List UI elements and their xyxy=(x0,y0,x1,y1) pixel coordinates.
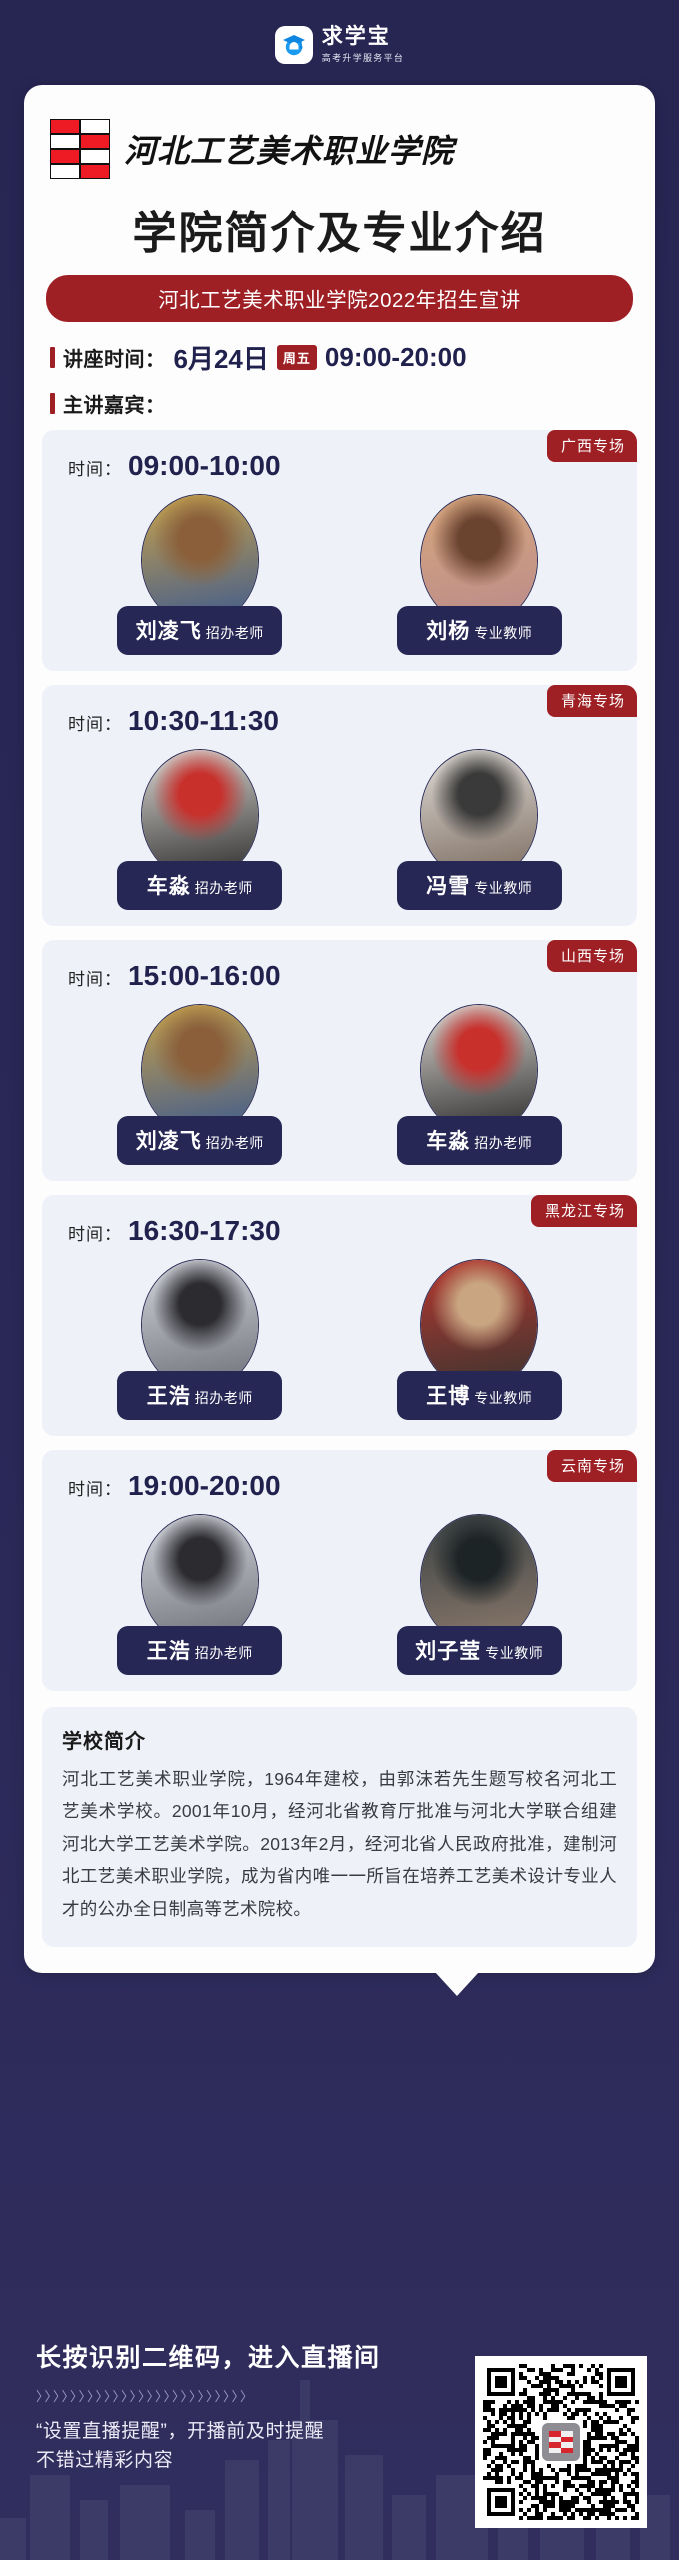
guest-label: 主讲嘉宾： xyxy=(63,389,166,418)
school-identity: 河北工艺美术职业学院 xyxy=(24,85,655,179)
speaker-role: 招办老师 xyxy=(474,1133,532,1153)
speaker-item: 刘杨专业教师 xyxy=(384,494,574,655)
speaker-list: 王浩招办老师王博专业教师 xyxy=(42,1259,637,1420)
speaker-name-chip: 王浩招办老师 xyxy=(117,1626,282,1675)
chevron-divider-icon: 〉〉〉〉〉〉〉〉〉〉〉〉〉〉〉〉〉〉〉〉〉〉〉〉〉 xyxy=(36,2386,475,2405)
speaker-item: 王浩招办老师 xyxy=(105,1514,295,1675)
speaker-role: 专业教师 xyxy=(474,623,532,643)
speaker-role: 专业教师 xyxy=(485,1643,543,1663)
speaker-name: 刘子莹 xyxy=(415,1635,481,1665)
speaker-item: 车淼招办老师 xyxy=(105,749,295,910)
speaker-name-chip: 冯雪专业教师 xyxy=(397,861,562,910)
speaker-role: 招办老师 xyxy=(206,623,264,643)
lecture-time-range: 09:00-20:00 xyxy=(325,342,467,373)
session-block: 山西专场时间：15:00-16:00刘凌飞招办老师车淼招办老师 xyxy=(42,940,637,1181)
speaker-item: 刘子莹专业教师 xyxy=(384,1514,574,1675)
speaker-list: 王浩招办老师刘子莹专业教师 xyxy=(42,1514,637,1675)
session-time-label: 时间： xyxy=(68,1475,122,1500)
cta-line-2: “设置直播提醒”，开播前及时提醒 xyxy=(36,2417,475,2446)
school-intro-body: 河北工艺美术职业学院，1964年建校，由郭沫若先生题写校名河北工艺美术学校。20… xyxy=(62,1763,617,1925)
speaker-name-chip: 刘杨专业教师 xyxy=(397,606,562,655)
session-region-badge: 云南专场 xyxy=(547,1450,637,1482)
session-region-badge: 广西专场 xyxy=(547,430,637,462)
speaker-list: 车淼招办老师冯雪专业教师 xyxy=(42,749,637,910)
speaker-list: 刘凌飞招办老师车淼招办老师 xyxy=(42,1004,637,1165)
session-time-value: 15:00-16:00 xyxy=(128,960,281,992)
weekday-badge: 周五 xyxy=(277,345,317,370)
bullet-tick-icon xyxy=(50,393,55,414)
session-time-label: 时间： xyxy=(68,710,122,735)
bullet-tick-icon xyxy=(50,347,55,368)
session-region-badge: 黑龙江专场 xyxy=(531,1195,637,1227)
poster-page: 求学宝 高考升学服务平台 河北工艺美术职业学院 学院简介及专业介绍 河北工艺美术… xyxy=(0,0,679,2560)
school-intro-block: 学校简介 河北工艺美术职业学院，1964年建校，由郭沫若先生题写校名河北工艺美术… xyxy=(42,1707,637,1947)
main-card: 河北工艺美术职业学院 学院简介及专业介绍 河北工艺美术职业学院2022年招生宣讲… xyxy=(24,85,655,1973)
session-time-label: 时间： xyxy=(68,455,122,480)
cta-headline: 长按识别二维码，进入直播间 xyxy=(36,2338,475,2374)
speaker-name: 刘凌飞 xyxy=(136,1125,202,1155)
speaker-name: 王浩 xyxy=(147,1635,191,1665)
session-block: 广西专场时间：09:00-10:00刘凌飞招办老师刘杨专业教师 xyxy=(42,430,637,671)
session-time-label: 时间： xyxy=(68,1220,122,1245)
speaker-role: 专业教师 xyxy=(474,878,532,898)
speaker-name: 王博 xyxy=(426,1380,470,1410)
speaker-name-chip: 车淼招办老师 xyxy=(117,861,282,910)
speaker-name-chip: 车淼招办老师 xyxy=(397,1116,562,1165)
session-region-badge: 青海专场 xyxy=(547,685,637,717)
lecture-date: 6月24日 xyxy=(174,339,269,376)
brand-subtitle: 高考升学服务平台 xyxy=(322,51,404,64)
speaker-item: 冯雪专业教师 xyxy=(384,749,574,910)
guest-label-row: 主讲嘉宾： xyxy=(24,389,655,418)
session-time-value: 16:30-17:30 xyxy=(128,1215,281,1247)
session-time-value: 09:00-10:00 xyxy=(128,450,281,482)
session-block: 黑龙江专场时间：16:30-17:30王浩招办老师王博专业教师 xyxy=(42,1195,637,1436)
speaker-item: 刘凌飞招办老师 xyxy=(105,1004,295,1165)
speaker-name-chip: 王浩招办老师 xyxy=(117,1371,282,1420)
session-list: 广西专场时间：09:00-10:00刘凌飞招办老师刘杨专业教师青海专场时间：10… xyxy=(24,430,655,1691)
speaker-role: 专业教师 xyxy=(474,1388,532,1408)
session-time-label: 时间： xyxy=(68,965,122,990)
speaker-name-chip: 王博专业教师 xyxy=(397,1371,562,1420)
session-region-badge: 山西专场 xyxy=(547,940,637,972)
session-block: 青海专场时间：10:30-11:30车淼招办老师冯雪专业教师 xyxy=(42,685,637,926)
qr-cta-band: 长按识别二维码，进入直播间 〉〉〉〉〉〉〉〉〉〉〉〉〉〉〉〉〉〉〉〉〉〉〉〉〉 … xyxy=(0,2292,679,2560)
speaker-name: 车淼 xyxy=(147,870,191,900)
speaker-item: 刘凌飞招办老师 xyxy=(105,494,295,655)
speaker-name-chip: 刘子莹专业教师 xyxy=(397,1626,562,1675)
session-time-value: 19:00-20:00 xyxy=(128,1470,281,1502)
speaker-list: 刘凌飞招办老师刘杨专业教师 xyxy=(42,494,637,655)
speaker-name-chip: 刘凌飞招办老师 xyxy=(117,606,282,655)
speaker-item: 王浩招办老师 xyxy=(105,1259,295,1420)
page-title: 学院简介及专业介绍 xyxy=(24,197,655,261)
speaker-role: 招办老师 xyxy=(195,878,253,898)
brand-title: 求学宝 xyxy=(322,26,404,48)
session-block: 云南专场时间：19:00-20:00王浩招办老师刘子莹专业教师 xyxy=(42,1450,637,1691)
qr-center-emblem-icon xyxy=(542,2423,580,2461)
speaker-name: 刘杨 xyxy=(426,615,470,645)
speaker-name: 车淼 xyxy=(426,1125,470,1155)
speaker-item: 车淼招办老师 xyxy=(384,1004,574,1165)
speaker-name: 王浩 xyxy=(147,1380,191,1410)
graduation-cap-icon xyxy=(275,26,313,64)
brand-header: 求学宝 高考升学服务平台 xyxy=(0,26,679,64)
speaker-name: 冯雪 xyxy=(426,870,470,900)
school-name: 河北工艺美术职业学院 xyxy=(124,126,454,172)
speaker-role: 招办老师 xyxy=(206,1133,264,1153)
speaker-name-chip: 刘凌飞招办老师 xyxy=(117,1116,282,1165)
lecture-time-row: 讲座时间： 6月24日 周五 09:00-20:00 xyxy=(24,339,655,376)
session-time-value: 10:30-11:30 xyxy=(128,705,279,737)
speaker-role: 招办老师 xyxy=(195,1388,253,1408)
school-intro-title: 学校简介 xyxy=(62,1725,617,1754)
subtitle-banner: 河北工艺美术职业学院2022年招生宣讲 xyxy=(46,275,633,322)
speaker-name: 刘凌飞 xyxy=(136,615,202,645)
qr-code-icon[interactable] xyxy=(475,2356,647,2528)
speaker-role: 招办老师 xyxy=(195,1643,253,1663)
cta-line-3: 不错过精彩内容 xyxy=(36,2446,475,2475)
school-emblem-icon xyxy=(50,119,110,179)
speaker-item: 王博专业教师 xyxy=(384,1259,574,1420)
lecture-time-label: 讲座时间： xyxy=(63,343,166,372)
